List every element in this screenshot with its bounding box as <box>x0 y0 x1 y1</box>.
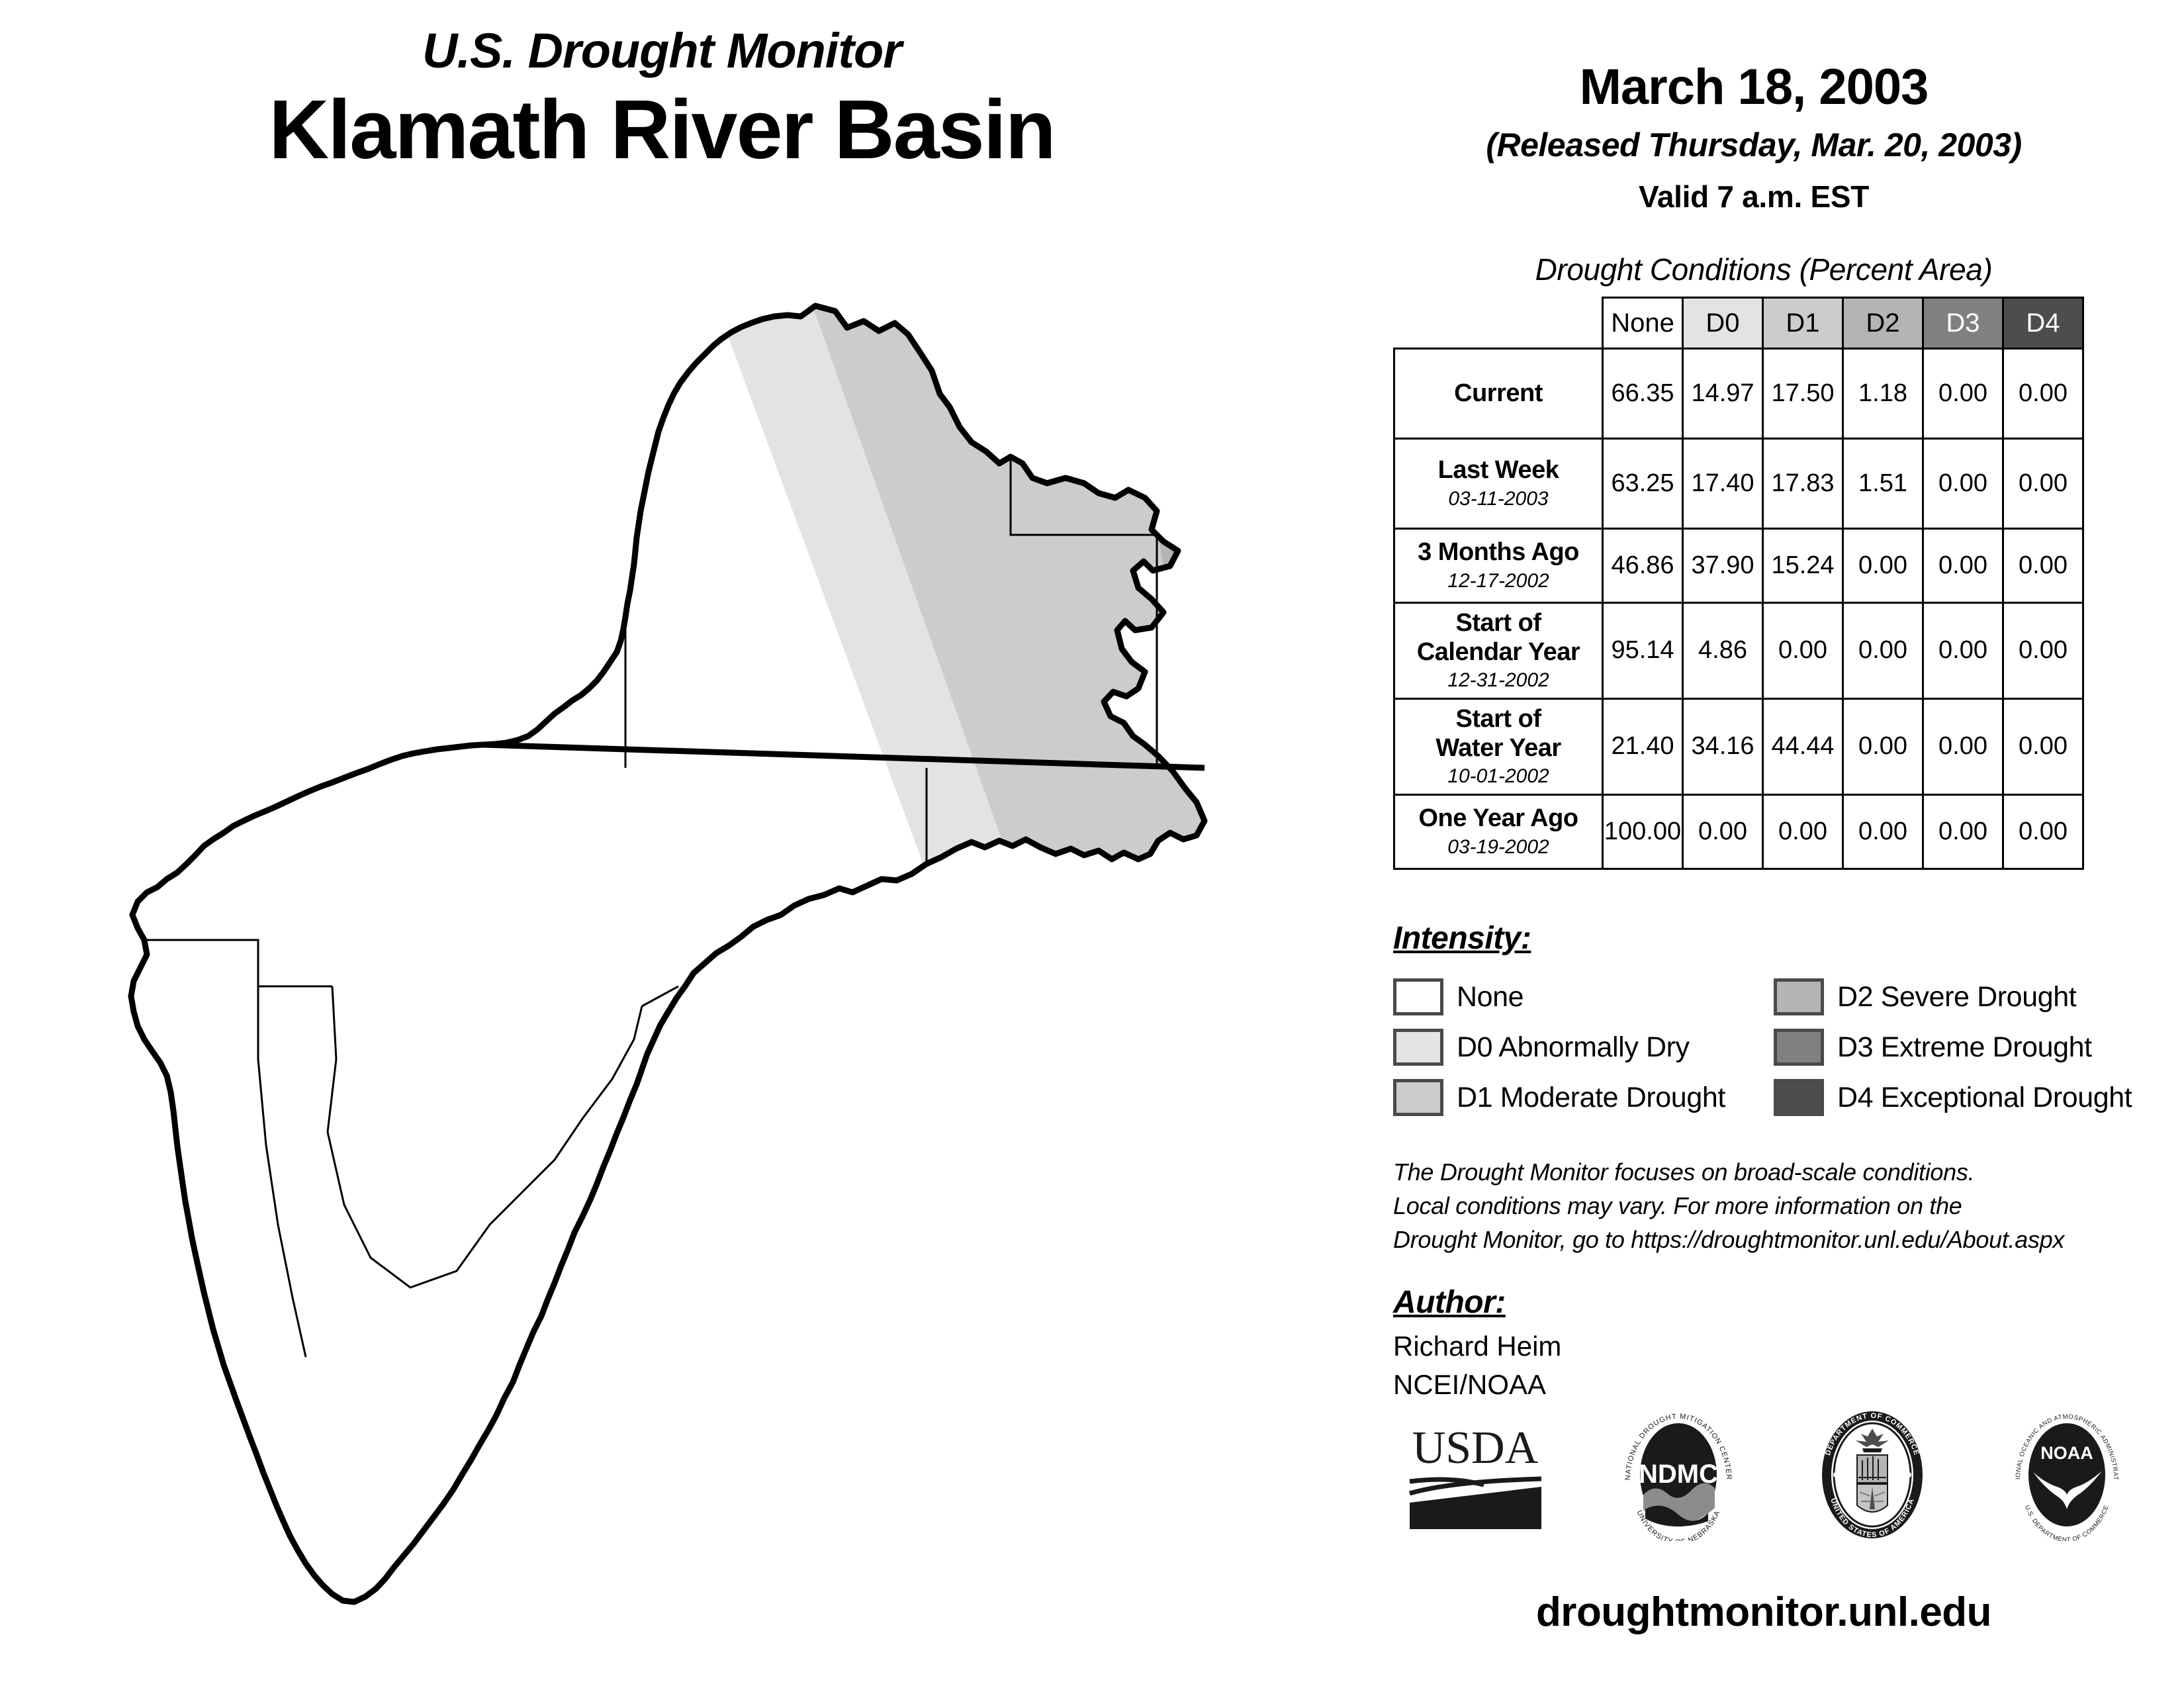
legend-swatch-d2 <box>1774 978 1824 1015</box>
cell-3months-d3: 0.00 <box>1923 529 2003 603</box>
row-label-3-months-ago: 3 Months Ago 12-17-2002 <box>1394 529 1603 603</box>
cell-calyear-d4: 0.00 <box>2003 603 2083 699</box>
cell-lastweek-d2: 1.51 <box>1843 439 1923 529</box>
row-label-last-week: Last Week 03-11-2003 <box>1394 439 1603 529</box>
cell-calyear-d3: 0.00 <box>1923 603 2003 699</box>
legend-item-d3: D3 Extreme Drought <box>1774 1029 2154 1066</box>
cell-wateryear-d3: 0.00 <box>1923 698 2003 794</box>
legend-item-none: None <box>1393 978 1774 1015</box>
noaa-logo[interactable]: NOAA NATIONAL OCEANIC AND ATMOSPHERIC AD… <box>2004 1409 2130 1544</box>
cell-calyear-none: 95.14 <box>1603 603 1683 699</box>
table-row: 3 Months Ago 12-17-2002 46.86 37.90 15.2… <box>1394 529 2083 603</box>
cell-calyear-d0: 4.86 <box>1683 603 1763 699</box>
table-corner-cell <box>1394 298 1603 349</box>
legend-item-d4: D4 Exceptional Drought <box>1774 1079 2154 1116</box>
column-header-d4: D4 <box>2003 298 2083 349</box>
cell-oneyear-d4: 0.00 <box>2003 794 2083 868</box>
row-label-text: Start of Calendar Year <box>1399 609 1598 667</box>
cell-current-d1: 17.50 <box>1763 349 1843 439</box>
released-date: (Released Thursday, Mar. 20, 2003) <box>1357 126 2151 164</box>
ndmc-logo-text: NDMC <box>1639 1460 1718 1489</box>
legend-label-none: None <box>1457 981 1524 1013</box>
cell-oneyear-d0: 0.00 <box>1683 794 1763 868</box>
program-title: U.S. Drought Monitor <box>0 26 1324 75</box>
cell-lastweek-none: 63.25 <box>1603 439 1683 529</box>
column-header-d1: D1 <box>1763 298 1843 349</box>
intensity-legend: None D2 Severe Drought D0 Abnormally Dry… <box>1393 972 2161 1123</box>
cell-oneyear-none: 100.00 <box>1603 794 1683 868</box>
cell-wateryear-d2: 0.00 <box>1843 698 1923 794</box>
valid-date: March 18, 2003 <box>1357 58 2151 116</box>
usda-logo[interactable]: USDA <box>1404 1415 1547 1538</box>
table-body: Current 66.35 14.97 17.50 1.18 0.00 0.00… <box>1394 349 2083 869</box>
table-row: Start of Water Year 10-01-2002 21.40 34.… <box>1394 698 2083 794</box>
cell-wateryear-d4: 0.00 <box>2003 698 2083 794</box>
row-label-text: Last Week <box>1399 456 1598 485</box>
row-label-date: 03-11-2003 <box>1399 488 1598 511</box>
cell-calyear-d1: 0.00 <box>1763 603 1843 699</box>
author-affiliation: NCEI/NOAA <box>1393 1369 1546 1401</box>
column-header-d2: D2 <box>1843 298 1923 349</box>
info-panel: March 18, 2003 (Released Thursday, Mar. … <box>1357 0 2184 1688</box>
legend-swatch-d3 <box>1774 1029 1824 1066</box>
cell-calyear-d2: 0.00 <box>1843 603 1923 699</box>
table-row: Current 66.35 14.97 17.50 1.18 0.00 0.00 <box>1394 349 2083 439</box>
cell-current-d3: 0.00 <box>1923 349 2003 439</box>
intensity-heading: Intensity: <box>1393 920 1531 957</box>
row-label-text: One Year Ago <box>1399 804 1598 833</box>
row-label-date: 10-01-2002 <box>1399 765 1598 788</box>
legend-label-d0: D0 Abnormally Dry <box>1457 1031 1690 1064</box>
usda-logo-text: USDA <box>1412 1423 1539 1474</box>
legend-label-d2: D2 Severe Drought <box>1837 981 2076 1013</box>
disclaimer-line-1: The Drought Monitor focuses on broad-sca… <box>1393 1155 2161 1189</box>
partner-logos: USDA NDMC NATIONAL DROUGHT MITIGATION CE… <box>1370 1410 2164 1542</box>
disclaimer-text: The Drought Monitor focuses on broad-sca… <box>1393 1155 2161 1256</box>
cell-current-none: 66.35 <box>1603 349 1683 439</box>
cell-wateryear-d1: 44.44 <box>1763 698 1843 794</box>
row-label-start-water-year: Start of Water Year 10-01-2002 <box>1394 698 1603 794</box>
noaa-logo-text: NOAA <box>2040 1443 2093 1463</box>
row-label-current: Current <box>1394 349 1603 439</box>
row-label-start-calendar-year: Start of Calendar Year 12-31-2002 <box>1394 603 1603 699</box>
legend-swatch-d0 <box>1393 1029 1443 1066</box>
cell-wateryear-d0: 34.16 <box>1683 698 1763 794</box>
title-block: U.S. Drought Monitor Klamath River Basin <box>0 26 1324 173</box>
cell-oneyear-d2: 0.00 <box>1843 794 1923 868</box>
site-url[interactable]: droughtmonitor.unl.edu <box>1357 1589 2171 1636</box>
cell-oneyear-d1: 0.00 <box>1763 794 1843 868</box>
disclaimer-line-3: Drought Monitor, go to https://droughtmo… <box>1393 1223 2161 1256</box>
table-caption: Drought Conditions (Percent Area) <box>1357 252 2171 287</box>
basin-map-svg <box>60 265 1304 1668</box>
cell-3months-none: 46.86 <box>1603 529 1683 603</box>
cell-3months-d2: 0.00 <box>1843 529 1923 603</box>
legend-swatch-none <box>1393 978 1443 1015</box>
cell-lastweek-d3: 0.00 <box>1923 439 2003 529</box>
klamath-basin-map[interactable] <box>60 265 1304 1668</box>
page-title: Klamath River Basin <box>0 86 1324 173</box>
cell-lastweek-d4: 0.00 <box>2003 439 2083 529</box>
ndmc-logo[interactable]: NDMC NATIONAL DROUGHT MITIGATION CENTER … <box>1615 1409 1741 1544</box>
drought-conditions-table: None D0 D1 D2 D3 D4 Current 66.35 14.97 … <box>1393 297 2084 870</box>
cell-lastweek-d1: 17.83 <box>1763 439 1843 529</box>
author-name: Richard Heim <box>1393 1331 1561 1362</box>
table-row: Start of Calendar Year 12-31-2002 95.14 … <box>1394 603 2083 699</box>
cell-3months-d0: 37.90 <box>1683 529 1763 603</box>
column-header-none: None <box>1603 298 1683 349</box>
cell-wateryear-none: 21.40 <box>1603 698 1683 794</box>
cell-oneyear-d3: 0.00 <box>1923 794 2003 868</box>
legend-swatch-d4 <box>1774 1079 1824 1116</box>
legend-item-d2: D2 Severe Drought <box>1774 978 2154 1015</box>
cell-3months-d4: 0.00 <box>2003 529 2083 603</box>
table-row: One Year Ago 03-19-2002 100.00 0.00 0.00… <box>1394 794 2083 868</box>
author-heading: Author: <box>1393 1284 1506 1321</box>
disclaimer-line-2: Local conditions may vary. For more info… <box>1393 1189 2161 1223</box>
legend-item-d1: D1 Moderate Drought <box>1393 1079 1774 1116</box>
cell-current-d2: 1.18 <box>1843 349 1923 439</box>
cell-current-d0: 14.97 <box>1683 349 1763 439</box>
cell-3months-d1: 15.24 <box>1763 529 1843 603</box>
row-label-date: 03-19-2002 <box>1399 836 1598 859</box>
row-label-one-year-ago: One Year Ago 03-19-2002 <box>1394 794 1603 868</box>
legend-label-d3: D3 Extreme Drought <box>1837 1031 2092 1064</box>
row-label-text: Current <box>1399 379 1598 408</box>
row-label-text: Start of Water Year <box>1399 705 1598 763</box>
row-label-text: 3 Months Ago <box>1399 538 1598 567</box>
cell-lastweek-d0: 17.40 <box>1683 439 1763 529</box>
column-header-d0: D0 <box>1683 298 1763 349</box>
legend-swatch-d1 <box>1393 1079 1443 1116</box>
legend-label-d1: D1 Moderate Drought <box>1457 1082 1725 1114</box>
doc-seal-logo[interactable]: DEPARTMENT OF COMMERCE UNITED STATES OF … <box>1809 1409 1935 1544</box>
column-header-d3: D3 <box>1923 298 2003 349</box>
row-label-date: 12-31-2002 <box>1399 669 1598 692</box>
table-header-row: None D0 D1 D2 D3 D4 <box>1394 298 2083 349</box>
legend-label-d4: D4 Exceptional Drought <box>1837 1082 2132 1114</box>
table-row: Last Week 03-11-2003 63.25 17.40 17.83 1… <box>1394 439 2083 529</box>
cell-current-d4: 0.00 <box>2003 349 2083 439</box>
valid-time: Valid 7 a.m. EST <box>1357 179 2151 214</box>
legend-item-d0: D0 Abnormally Dry <box>1393 1029 1774 1066</box>
row-label-date: 12-17-2002 <box>1399 570 1598 593</box>
